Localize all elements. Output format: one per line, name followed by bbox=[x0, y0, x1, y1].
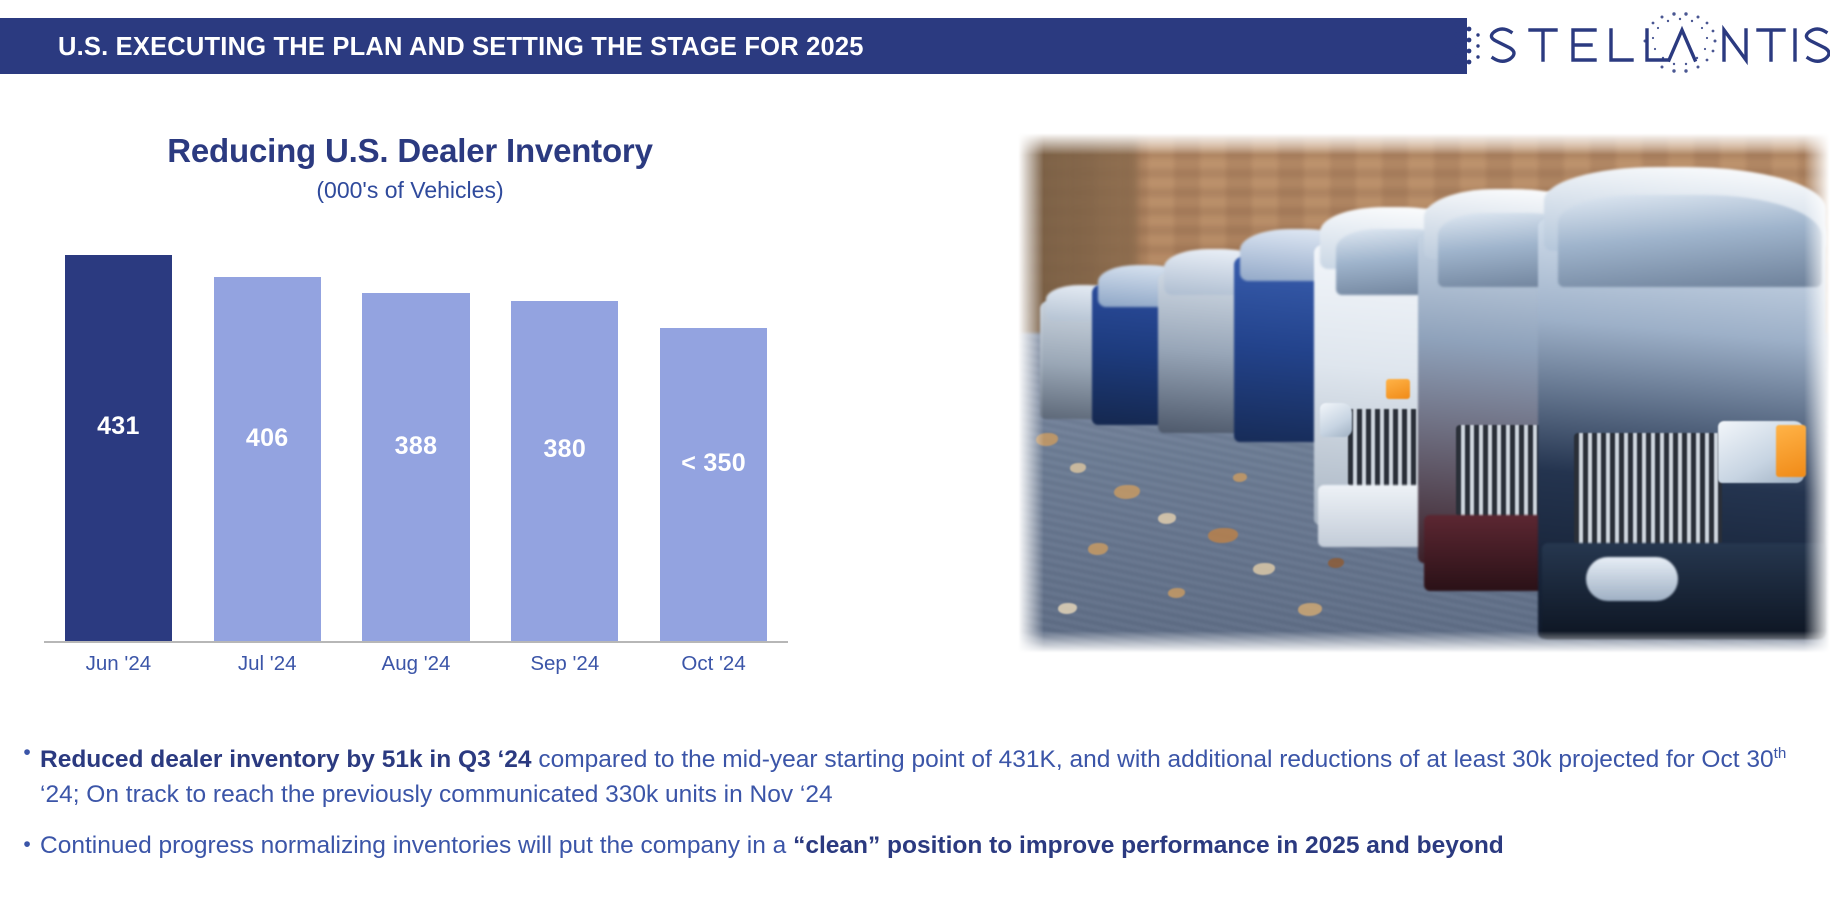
bar-aug24: 388 bbox=[362, 293, 469, 641]
chart-plot-area: 431406388380< 350 bbox=[44, 220, 788, 642]
bar-jun24: 431 bbox=[65, 255, 172, 641]
chart-title: Reducing U.S. Dealer Inventory bbox=[0, 132, 820, 170]
bullet-marker-icon: • bbox=[14, 828, 40, 863]
bar-jul24: 406 bbox=[214, 277, 321, 641]
photo-fog-light-housing bbox=[1586, 557, 1678, 601]
bullet-item: •Reduced dealer inventory by 51k in Q3 ‘… bbox=[14, 736, 1819, 812]
bullet-text-segment: th bbox=[1774, 745, 1787, 762]
dealer-lot-vehicles-photo bbox=[1018, 133, 1830, 653]
x-axis-label: Oct '24 bbox=[639, 652, 788, 676]
stellantis-logo-svg bbox=[1448, 8, 1830, 84]
slide: U.S. EXECUTING THE PLAN AND SETTING THE … bbox=[0, 0, 1830, 898]
photo-turn-signal bbox=[1386, 379, 1410, 399]
bar-value-label: 431 bbox=[97, 412, 140, 441]
bullet-marker-icon: • bbox=[14, 736, 40, 812]
x-axis-label: Jul '24 bbox=[193, 652, 342, 676]
bullet-list: •Reduced dealer inventory by 51k in Q3 ‘… bbox=[14, 736, 1819, 879]
photo-bumper bbox=[1542, 543, 1826, 639]
photo-windshield bbox=[1558, 195, 1822, 287]
bullet-text-segment: ‘24; On track to reach the previously co… bbox=[40, 781, 833, 808]
bullet-text: Reduced dealer inventory by 51k in Q3 ‘2… bbox=[40, 736, 1819, 812]
bullet-text-segment: “clean” position to improve performance … bbox=[793, 832, 1504, 859]
bullet-text-segment: compared to the mid-year starting point … bbox=[532, 746, 1774, 773]
bar-value-label: < 350 bbox=[681, 449, 746, 478]
bar-oct24: < 350 bbox=[660, 328, 767, 642]
photo-headlight bbox=[1320, 403, 1352, 437]
bar-value-label: 388 bbox=[395, 432, 438, 461]
chart-axis-line bbox=[44, 641, 788, 643]
bar-sep24: 380 bbox=[511, 301, 618, 641]
photo-grille bbox=[1574, 433, 1722, 545]
bar-value-label: 380 bbox=[543, 435, 586, 464]
bullet-text-segment: Continued progress normalizing inventori… bbox=[40, 832, 793, 859]
x-axis-label: Jun '24 bbox=[44, 652, 193, 676]
photo-turn-signal bbox=[1776, 425, 1806, 477]
inventory-bar-chart: Reducing U.S. Dealer Inventory (000's of… bbox=[0, 120, 830, 700]
x-axis-label: Sep '24 bbox=[490, 652, 639, 676]
bullet-text-segment: Reduced dealer inventory by 51k in Q3 ‘2… bbox=[40, 746, 532, 773]
stellantis-logo bbox=[1448, 8, 1830, 84]
x-axis-label: Aug '24 bbox=[342, 652, 491, 676]
photo-canvas bbox=[1018, 133, 1830, 653]
bullet-text: Continued progress normalizing inventori… bbox=[40, 828, 1819, 863]
bullet-item: •Continued progress normalizing inventor… bbox=[14, 828, 1819, 863]
page-title: U.S. EXECUTING THE PLAN AND SETTING THE … bbox=[58, 29, 864, 65]
chart-subtitle: (000's of Vehicles) bbox=[0, 177, 820, 204]
bar-value-label: 406 bbox=[246, 424, 289, 453]
chart-x-axis-labels: Jun '24Jul '24Aug '24Sep '24Oct '24 bbox=[44, 652, 788, 686]
